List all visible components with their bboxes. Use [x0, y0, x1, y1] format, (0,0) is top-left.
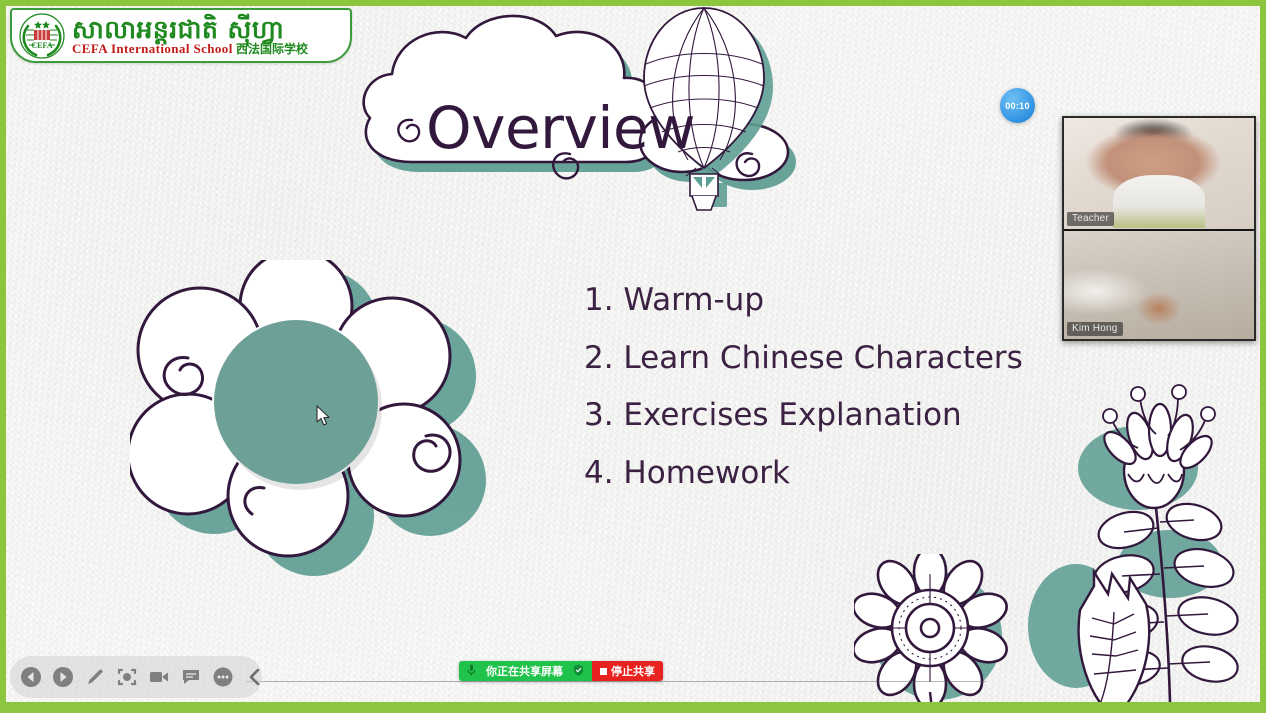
list-item: 2. Learn Chinese Characters	[584, 330, 1054, 388]
school-logo-badge: CEFA សាលាអន្តរជាតិ ស៊ីហ្វា CEFA Internat…	[10, 8, 352, 63]
list-item: 4. Homework	[584, 445, 1054, 503]
cefa-seal-icon: CEFA	[18, 12, 66, 60]
annotation-line	[246, 681, 986, 682]
stop-share-label: 停止共享	[611, 663, 655, 679]
agenda-list: 1. Warm-up 2. Learn Chinese Characters 3…	[584, 272, 1054, 503]
previous-slide-icon[interactable]	[18, 664, 44, 690]
microphone-icon[interactable]	[467, 664, 476, 679]
sharing-status-group[interactable]: 你正在共享屏幕	[459, 661, 592, 681]
presentation-slide[interactable]: Overview	[6, 6, 1260, 702]
screenshot-capture-icon[interactable]	[114, 664, 140, 690]
more-options-icon[interactable]	[210, 664, 236, 690]
video-tile-teacher[interactable]: Teacher	[1064, 118, 1254, 229]
video-participants-panel[interactable]: Teacher Kim Hong	[1062, 116, 1256, 341]
next-slide-icon[interactable]	[50, 664, 76, 690]
flower-doodle-teal-center	[130, 260, 540, 590]
logo-khmer-title: សាលាអន្តរជាតិ ស៊ីហ្វា	[72, 17, 308, 42]
video-camera-icon[interactable]	[146, 664, 172, 690]
cloud-title-banner: Overview	[344, 6, 864, 234]
collapse-chevron-icon[interactable]	[242, 664, 268, 690]
logo-english-title: CEFA International School	[72, 41, 233, 56]
screen-share-window: Overview	[0, 0, 1266, 713]
list-item: 1. Warm-up	[584, 272, 1054, 330]
list-item: 3. Exercises Explanation	[584, 387, 1054, 445]
pencil-annotate-icon[interactable]	[82, 664, 108, 690]
plant-leaves-doodle	[1024, 358, 1260, 702]
participant-name-label: Kim Hong	[1067, 322, 1123, 336]
chat-bubble-icon[interactable]	[178, 664, 204, 690]
participant-name-label: Teacher	[1067, 212, 1114, 226]
sunflower-doodle	[854, 554, 1034, 702]
stop-square-icon	[600, 668, 607, 675]
sharing-status-text: 你正在共享屏幕	[486, 663, 563, 679]
shield-icon[interactable]	[573, 664, 584, 679]
video-tile-kim-hong[interactable]: Kim Hong	[1064, 229, 1254, 340]
slide-title: Overview	[426, 94, 695, 162]
meeting-timer[interactable]: 00:10	[1000, 88, 1035, 123]
presentation-toolbar[interactable]	[10, 656, 262, 698]
screen-share-status-bar[interactable]: 你正在共享屏幕 停止共享	[459, 661, 663, 681]
svg-text:CEFA: CEFA	[31, 41, 52, 50]
logo-subtitle: CEFA International School 西法国际学校	[72, 42, 308, 55]
stop-share-button[interactable]: 停止共享	[592, 661, 663, 681]
logo-chinese-title: 西法国际学校	[236, 42, 308, 56]
